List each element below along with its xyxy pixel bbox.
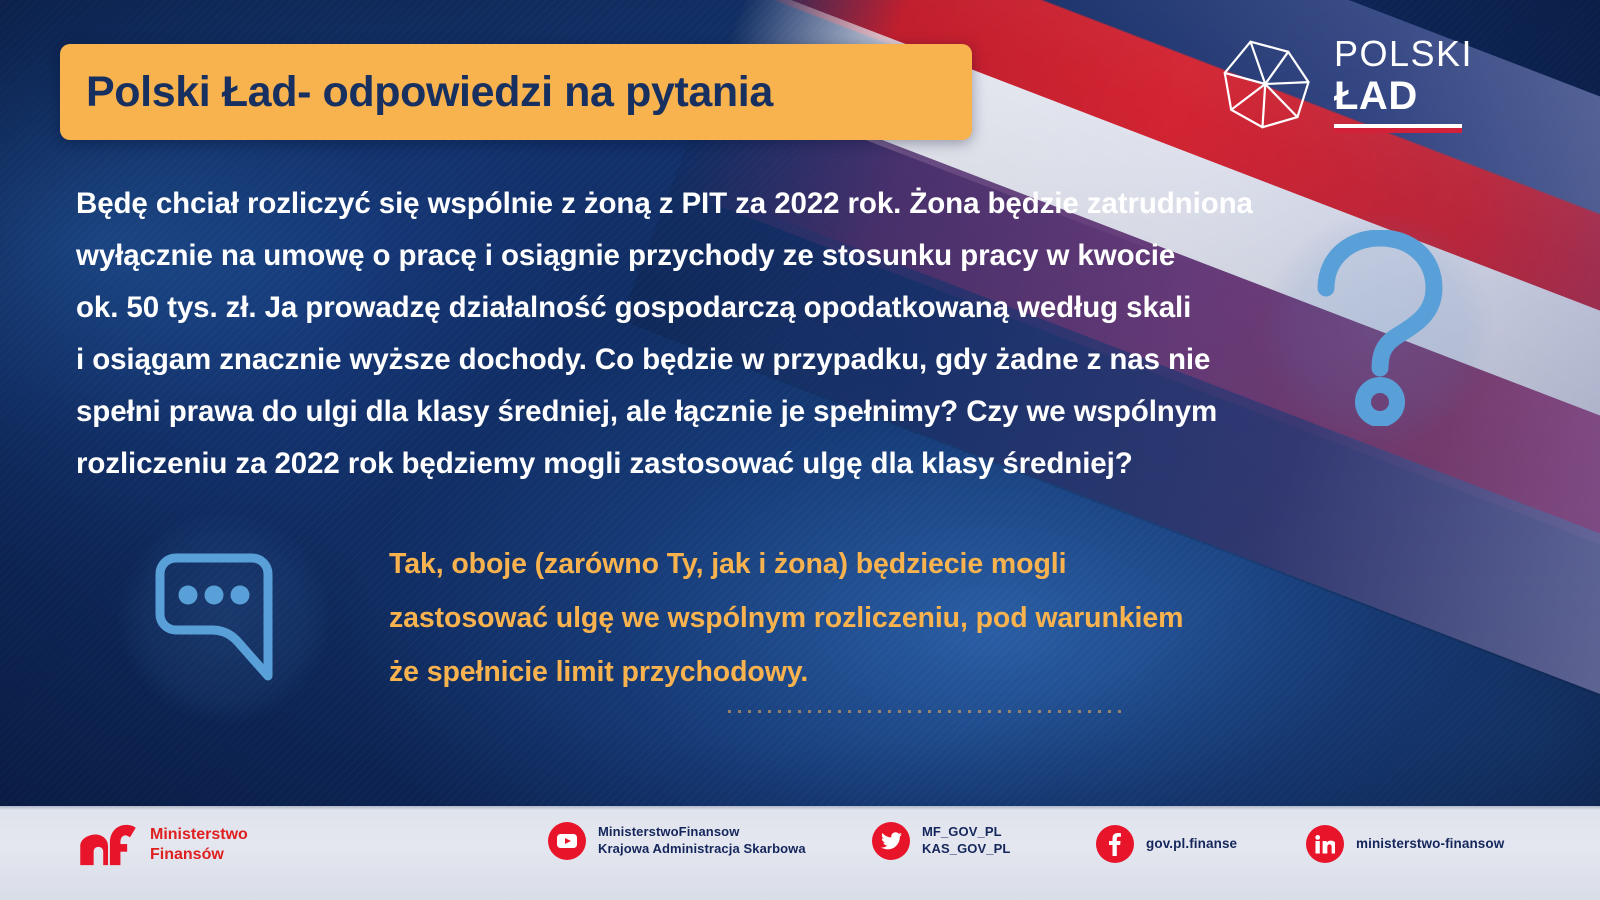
facebook-labels: gov.pl.finanse [1146,835,1237,853]
facebook-handle: gov.pl.finanse [1146,835,1237,853]
question-line: spełni prawa do ulgi dla klasy średniej,… [76,386,1251,438]
question-line: wyłącznie na umowę o pracę i osiągnie pr… [76,230,1251,282]
dotted-divider [728,710,1128,713]
social-link-facebook[interactable]: gov.pl.finanse [1096,825,1237,863]
twitter-labels: MF_GOV_PL KAS_GOV_PL [922,824,1010,858]
logo-word-polski: POLSKI [1334,36,1473,72]
social-link-twitter[interactable]: MF_GOV_PL KAS_GOV_PL [872,822,1010,860]
answer-block: Tak, oboje (zarówno Ty, jak i żona) będz… [389,537,1399,699]
question-line: i osiągam znacznie wyższe dochody. Co bę… [76,334,1251,386]
logo-flag-bar [1334,124,1462,133]
logo-word-lad: ŁAD [1334,76,1473,116]
twitter-handle-mf: MF_GOV_PL [922,824,1010,841]
youtube-handle: MinisterstwoFinansow [598,824,806,841]
answer-line: że spełnicie limit przychodowy. [389,645,1399,699]
youtube-labels: MinisterstwoFinansow Krajowa Administrac… [598,824,806,858]
linkedin-labels: ministerstwo-finansow [1356,835,1504,853]
ministry-wordmark: Ministerstwo Finansów [150,825,248,865]
mf-logo-mark [78,823,138,867]
speech-bubble-decoration [118,512,330,724]
social-link-youtube[interactable]: MinisterstwoFinansow Krajowa Administrac… [548,822,806,860]
answer-line-first-rest: oboje (zarówno Ty, jak i żona) będziecie… [444,548,1067,580]
question-line: rozliczeniu za 2022 rok będziemy mogli z… [76,438,1251,490]
facebook-icon [1096,825,1134,863]
ministry-of-finance-logo: Ministerstwo Finansów [78,823,248,867]
ministry-line1: Ministerstwo [150,825,248,845]
polski-lad-wordmark: POLSKI ŁAD [1334,36,1473,133]
youtube-subtitle: Krajowa Administracja Skarbowa [598,841,806,858]
twitter-handle-kas: KAS_GOV_PL [922,841,1010,858]
linkedin-handle: ministerstwo-finansow [1356,835,1504,853]
question-mark-decoration [1262,212,1494,444]
youtube-icon [548,822,586,860]
polski-lad-octagon-mark [1222,36,1314,132]
question-line: Będę chciał rozliczyć się wspólnie z żon… [76,178,1251,230]
polski-lad-logo: POLSKI ŁAD [1222,32,1512,136]
social-link-linkedin[interactable]: ministerstwo-finansow [1306,825,1504,863]
speech-bubble-icon [146,552,298,686]
logo-bar-red [1334,128,1462,133]
linkedin-icon [1306,825,1344,863]
infographic-canvas: POLSKI ŁAD Polski Ład- odpowiedzi na pyt… [0,0,1600,900]
answer-line: zastosować ulgę we wspólnym rozliczeniu,… [389,591,1399,645]
question-mark-icon [1296,230,1460,426]
page-title: Polski Ład- odpowiedzi na pytania [86,68,773,117]
twitter-icon [872,822,910,860]
answer-line-first: Tak, oboje (zarówno Ty, jak i żona) będz… [389,537,1399,591]
answer-lead: Tak, [389,548,444,580]
title-banner: Polski Ład- odpowiedzi na pytania [60,44,972,140]
question-block: Będę chciał rozliczyć się wspólnie z żon… [76,178,1251,490]
ministry-line2: Finansów [150,845,248,865]
question-line: ok. 50 tys. zł. Ja prowadzę działalność … [76,282,1251,334]
